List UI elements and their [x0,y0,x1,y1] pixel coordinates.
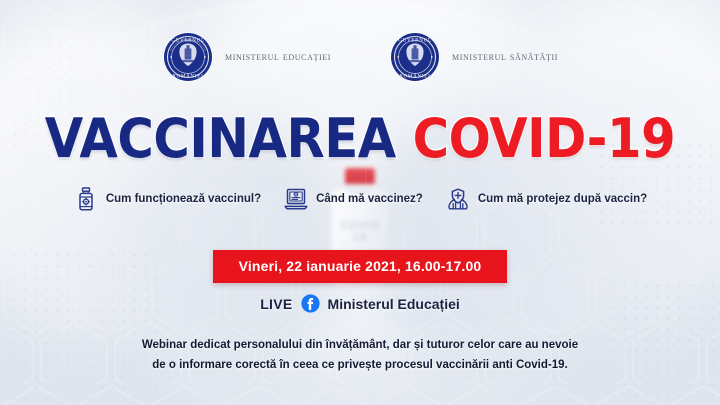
feature-item-how-vaccine-works: Cum funcționează vaccinul? [73,186,261,212]
ministry-label-health: Ministerul Sănătății [452,51,558,63]
svg-text:GUVERNUL: GUVERNUL [171,38,205,44]
poster-title: VACCINAREA COVID-19 [29,112,691,166]
feature-label: Când mă vaccinez? [316,193,423,205]
svg-text:GUVERNUL: GUVERNUL [398,38,432,44]
laptop-calendar-icon [283,186,309,212]
ministry-label-education: Ministerul Educației [225,51,331,63]
feature-label: Cum funcționează vaccinul? [106,193,261,205]
description-line-1: Webinar dedicat personalului din învățăm… [60,336,660,356]
guvernul-romaniei-seal-icon: GUVERNUL ROMÂNIEI [389,31,441,83]
title-part-covid19: COVID-19 [413,107,676,170]
feature-item-how-to-protect: Cum mă protejez după vaccin? [445,186,647,212]
svg-text:ROMÂNIEI: ROMÂNIEI [172,71,203,79]
date-banner-container: Vineri, 22 ianuarie 2021, 16.00-17.00 [0,250,720,283]
live-stream-row: LIVE Ministerul Educației [0,294,720,313]
government-logos-row: GUVERNUL ROMÂNIEI Ministerul Educației [0,31,720,83]
webinar-poster: COVID 19 [0,0,720,405]
event-date-banner: Vineri, 22 ianuarie 2021, 16.00-17.00 [213,250,508,283]
facebook-page-name[interactable]: Ministerul Educației [328,296,460,312]
live-label: LIVE [260,296,292,312]
ministry-logo-education: GUVERNUL ROMÂNIEI Ministerul Educației [162,31,331,83]
hands-shield-icon [445,186,471,212]
feature-label: Cum mă protejez după vaccin? [478,193,647,205]
event-description: Webinar dedicat personalului din învățăm… [60,336,660,376]
guvernul-romaniei-seal-icon: GUVERNUL ROMÂNIEI [162,31,214,83]
feature-list: Cum funcționează vaccinul? Când mă vacci… [0,186,720,212]
ministry-logo-health: GUVERNUL ROMÂNIEI Ministerul Sănătății [389,31,558,83]
vaccine-vial-icon [73,186,99,212]
facebook-icon[interactable] [301,294,320,313]
description-line-2: de o informare corectă în ceea ce priveș… [60,356,660,376]
feature-item-when-to-vaccinate: Când mă vaccinez? [283,186,423,212]
title-part-vaccinarea: VACCINAREA [45,107,396,170]
svg-text:ROMÂNIEI: ROMÂNIEI [399,71,430,79]
